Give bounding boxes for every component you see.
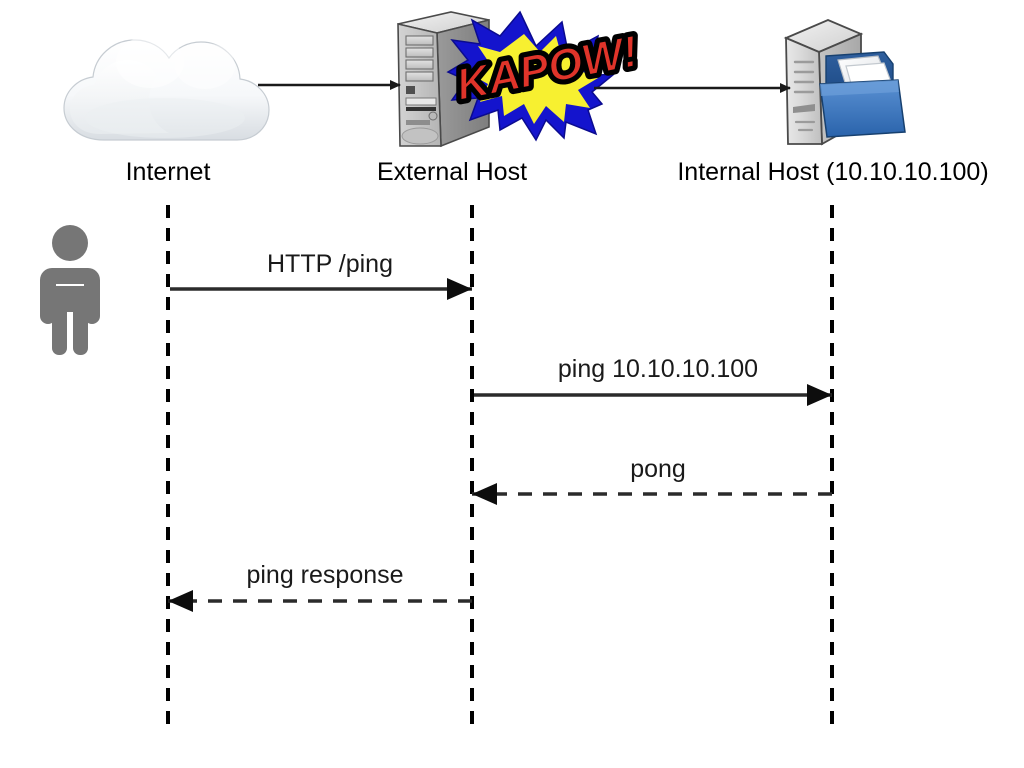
cloud-icon xyxy=(64,36,269,140)
message-label-pong: pong xyxy=(630,455,686,483)
diagram-svg: KAPOW! KAPOW! xyxy=(0,0,1024,768)
message-label-http-ping: HTTP /ping xyxy=(267,250,393,278)
participant-label-external-host: External Host xyxy=(377,158,527,186)
sequence-diagram-canvas: KAPOW! KAPOW! xyxy=(0,0,1024,768)
participant-label-internet: Internet xyxy=(126,158,211,186)
participant-label-internal-host: Internal Host (10.10.10.100) xyxy=(677,158,988,186)
message-label-ping-ip: ping 10.10.10.100 xyxy=(558,355,758,383)
person-icon xyxy=(40,225,100,355)
message-label-ping-response: ping response xyxy=(246,561,403,589)
server-folder-icon xyxy=(786,20,905,144)
